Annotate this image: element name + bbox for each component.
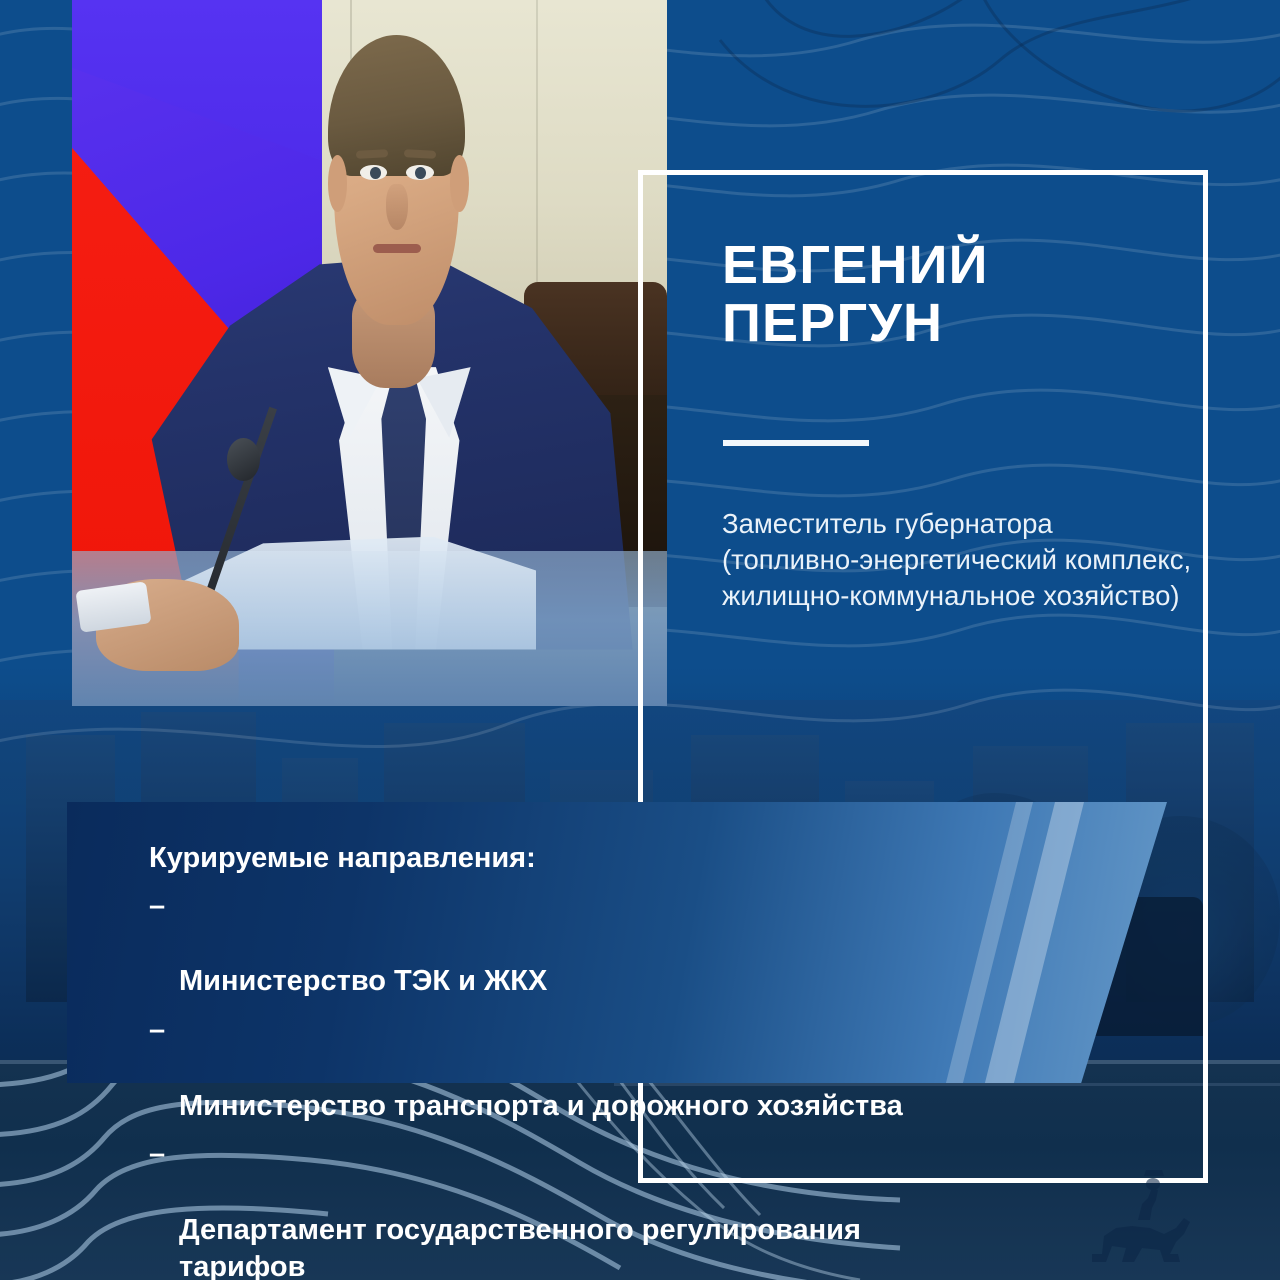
name-divider-rule [723,440,869,446]
list-dash: – [149,888,165,926]
person-name-line-1: ЕВГЕНИЙ [722,235,989,295]
microphone-icon [227,438,260,482]
ear-left [328,155,347,211]
ear-right [450,155,469,211]
mouth [373,244,421,253]
pupil-left [370,167,381,180]
list-item: – Департамент государственного регулиров… [149,1136,1029,1280]
list-dash: – [149,1012,165,1050]
list-dash: – [149,1136,165,1174]
person-role: Заместитель губернатора (топливно-энерге… [722,506,1192,613]
list-item-text: Министерство ТЭК и ЖКХ [179,965,547,997]
list-item: – Министерство транспорта и дорожного хо… [149,1012,1029,1125]
portrait-photo [72,0,667,706]
responsibilities-title: Курируемые направления: [149,840,1029,877]
equestrian-monument-icon [1072,1158,1222,1278]
info-card: ЕВГЕНИЙ ПЕРГУН Заместитель губернатора (… [0,0,1280,1280]
nose [386,184,407,231]
responsibilities-content: Курируемые направления: – Министерство Т… [149,840,1029,1280]
responsibilities-list: – Министерство ТЭК и ЖКХ – Министерство … [149,888,1029,1280]
person-name-line-2: ПЕРГУН [722,294,1202,352]
list-item-text: Министерство транспорта и дорожного хозя… [179,1090,903,1122]
person-name: ЕВГЕНИЙ ПЕРГУН [722,236,1202,353]
list-item-text: Департамент государственного регулирован… [179,1214,861,1280]
list-item: – Министерство ТЭК и ЖКХ [149,888,1029,1001]
